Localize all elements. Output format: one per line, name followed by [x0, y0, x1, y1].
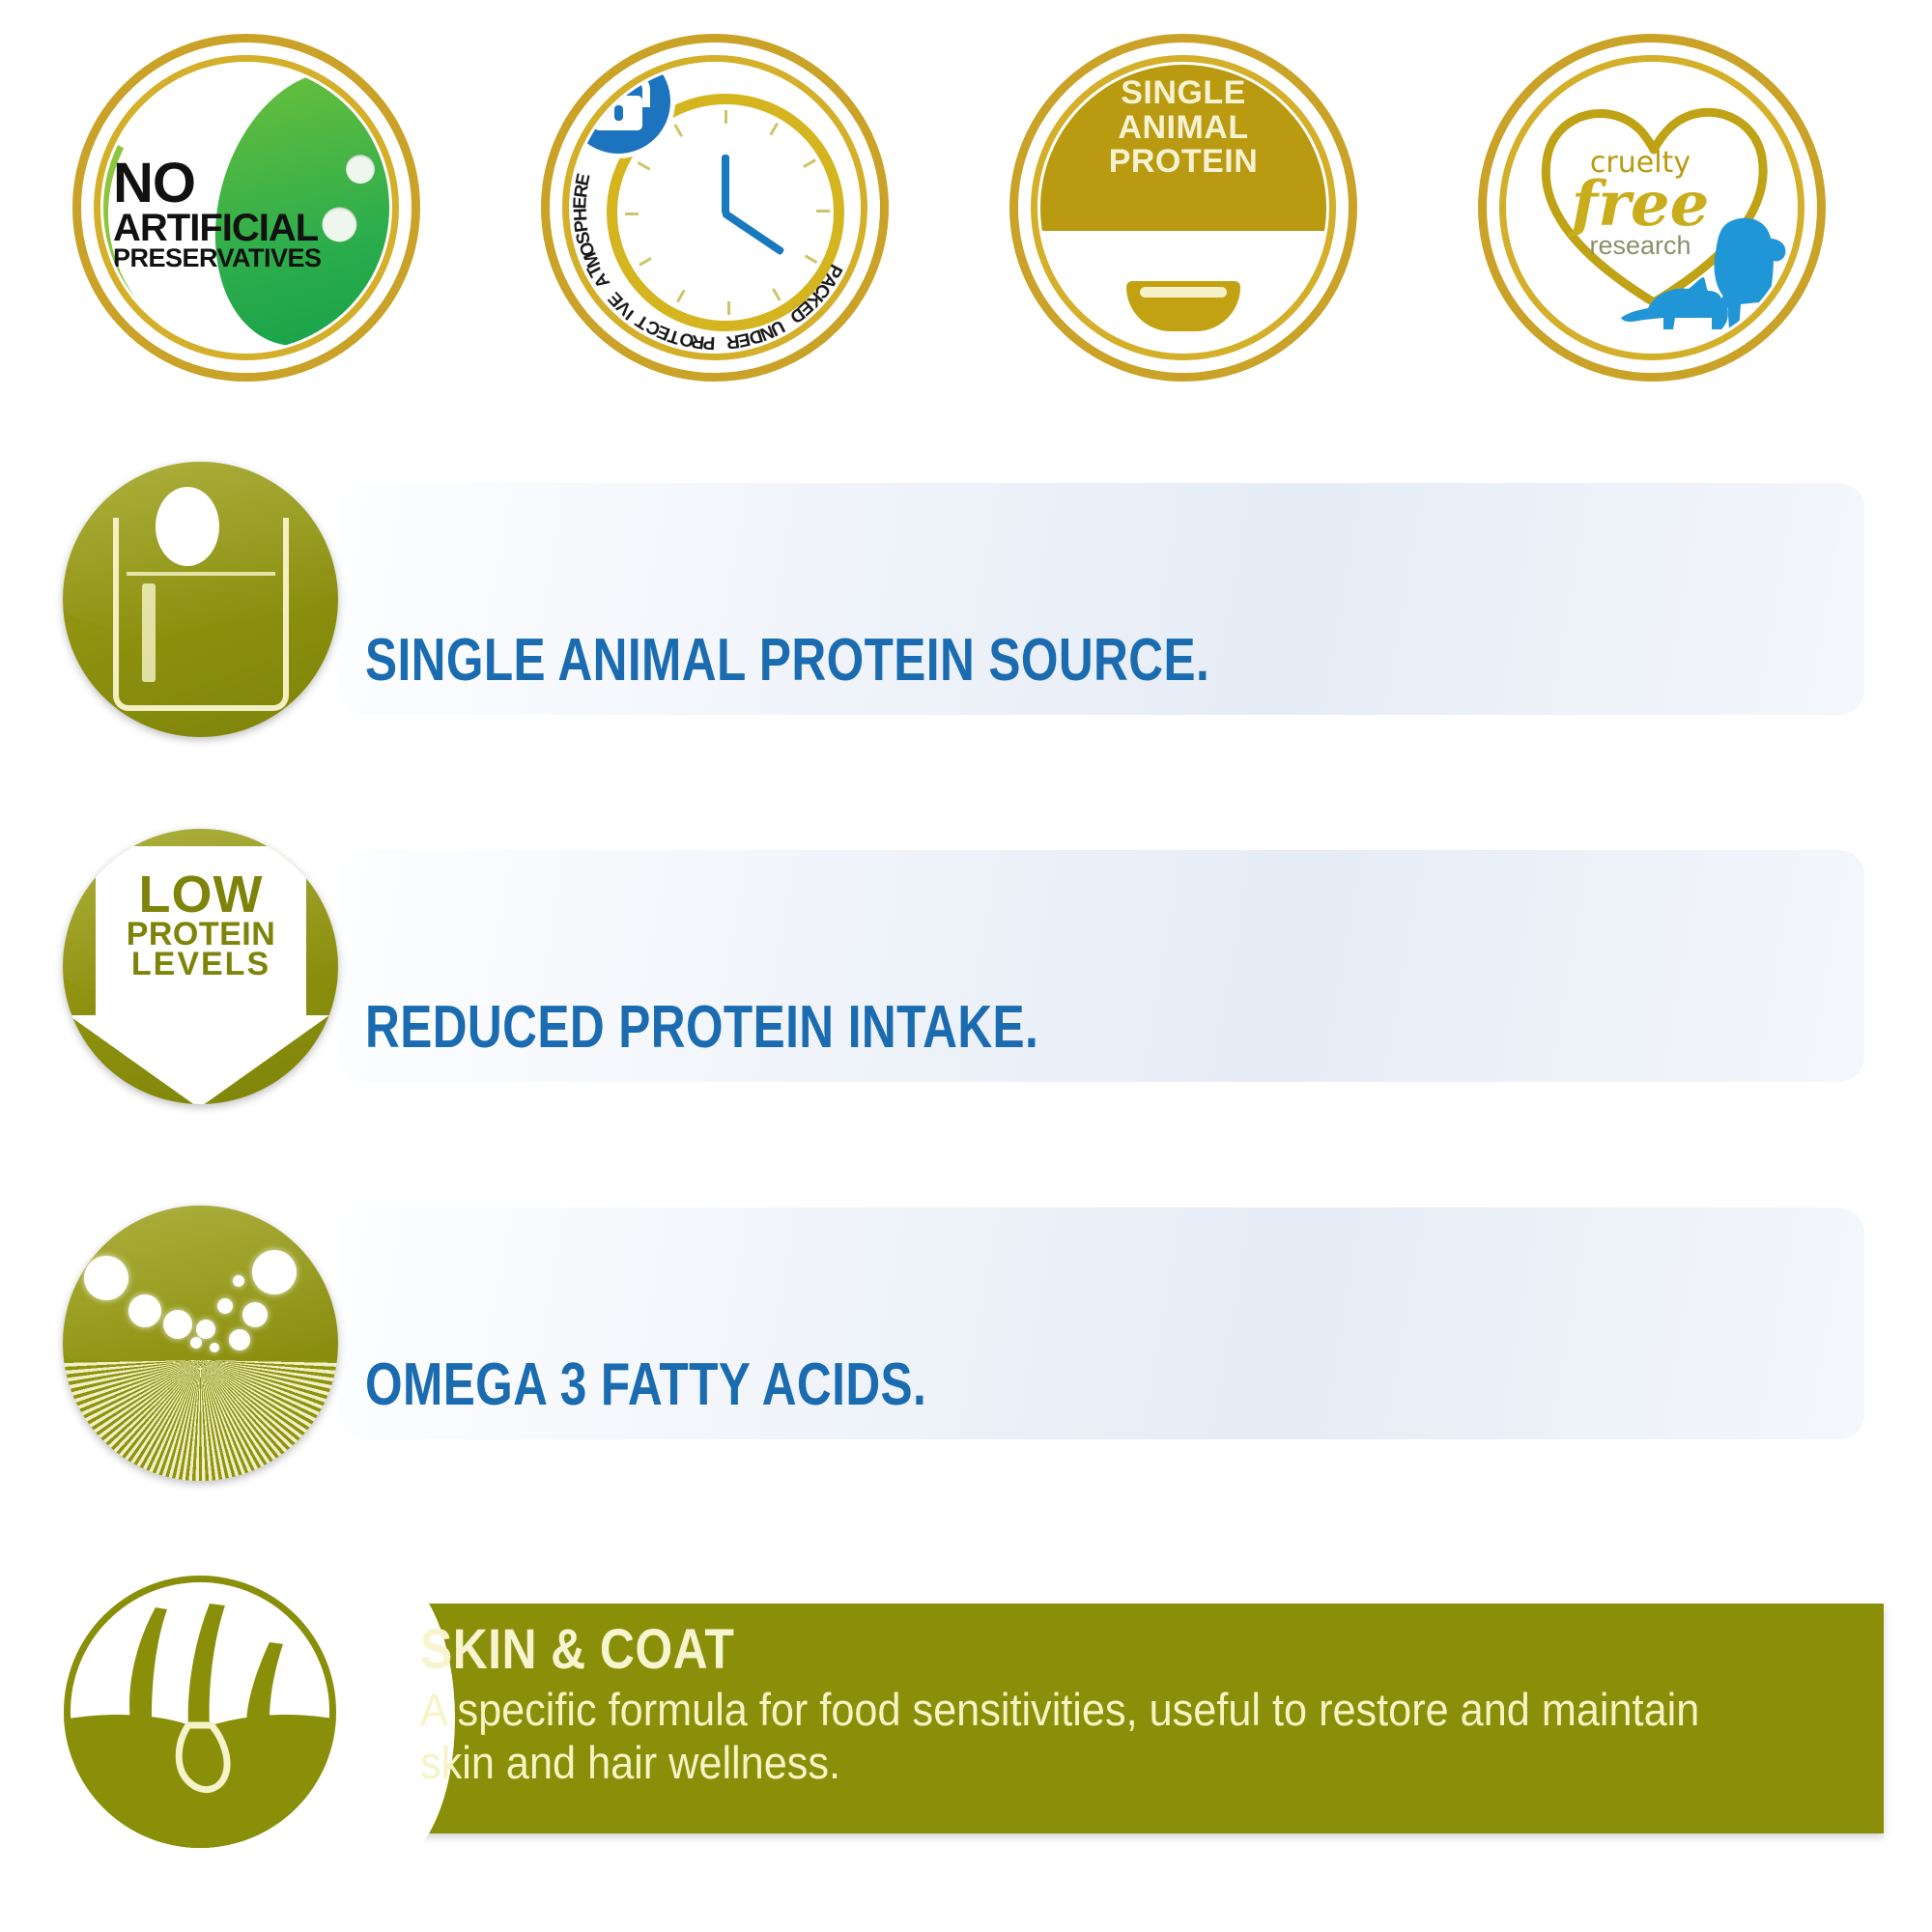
badge-line-3: PROTEIN	[1040, 145, 1326, 180]
product-feature-infographic: NO ARTIFICIAL PRESERVATIVES	[0, 0, 1932, 1932]
pet-food-bowl-icon	[1126, 281, 1240, 331]
feature-label-single-animal-protein-source: SINGLE ANIMAL PROTEIN SOURCE.	[365, 626, 1209, 695]
hair-follicle-icon	[63, 1575, 338, 1850]
badge-line-1: SINGLE	[1040, 76, 1326, 111]
beaker-with-drop-icon	[63, 462, 338, 737]
badge-face: SINGLE ANIMAL PROTEIN	[1040, 65, 1326, 351]
badge-line-2: ARTIFICIAL	[113, 211, 326, 247]
cat-and-dog-silhouette-icon	[1619, 196, 1789, 341]
badge-text: NO ARTIFICIAL PRESERVATIVES	[113, 157, 326, 270]
badge-packed-under-protective-atmosphere: PACKED UNDER PROTECTIVE ATMOSPHERE	[541, 34, 889, 382]
badge-line-3: PRESERVATIVES	[113, 246, 326, 270]
badge-bowl-panel	[1040, 231, 1326, 351]
field-with-bubbles-icon	[63, 1206, 338, 1481]
skin-and-coat-body: A specific formula for food sensitivitie…	[420, 1683, 1736, 1790]
badge-single-animal-protein: SINGLE ANIMAL PROTEIN	[1009, 34, 1357, 382]
badge-text-panel: SINGLE ANIMAL PROTEIN	[1040, 65, 1326, 231]
feature-label-reduced-protein-intake: REDUCED PROTEIN INTAKE.	[365, 993, 1038, 1062]
certification-badge-row: NO ARTIFICIAL PRESERVATIVES	[0, 10, 1932, 396]
skin-and-coat-bar: SKIN & COAT A specific formula for food …	[343, 1604, 1884, 1833]
dew-drop-icon	[343, 152, 379, 187]
icon-text-line-1: LOW	[96, 871, 306, 920]
badge-line-1: NO	[113, 157, 326, 211]
feature-label-omega-3-fatty-acids: OMEGA 3 FATTY ACIDS.	[365, 1350, 926, 1419]
badge-arc-text: PACKED UNDER PROTECTIVE ATMOSPHERE	[572, 65, 858, 351]
down-arrow-low-protein-levels-icon: LOW PROTEIN LEVELS	[63, 829, 338, 1104]
badge-face: cruelty free research	[1509, 65, 1795, 351]
badge-face: PACKED UNDER PROTECTIVE ATMOSPHERE	[572, 65, 858, 351]
skin-and-coat-title: SKIN & COAT	[420, 1617, 734, 1682]
badge-cruelty-free-research: cruelty free research	[1478, 34, 1826, 382]
badge-face: NO ARTIFICIAL PRESERVATIVES	[103, 65, 389, 351]
icon-text-line-3: LEVELS	[96, 950, 306, 980]
badge-no-artificial-preservatives: NO ARTIFICIAL PRESERVATIVES	[72, 34, 420, 382]
badge-line-2: ANIMAL	[1040, 111, 1326, 146]
